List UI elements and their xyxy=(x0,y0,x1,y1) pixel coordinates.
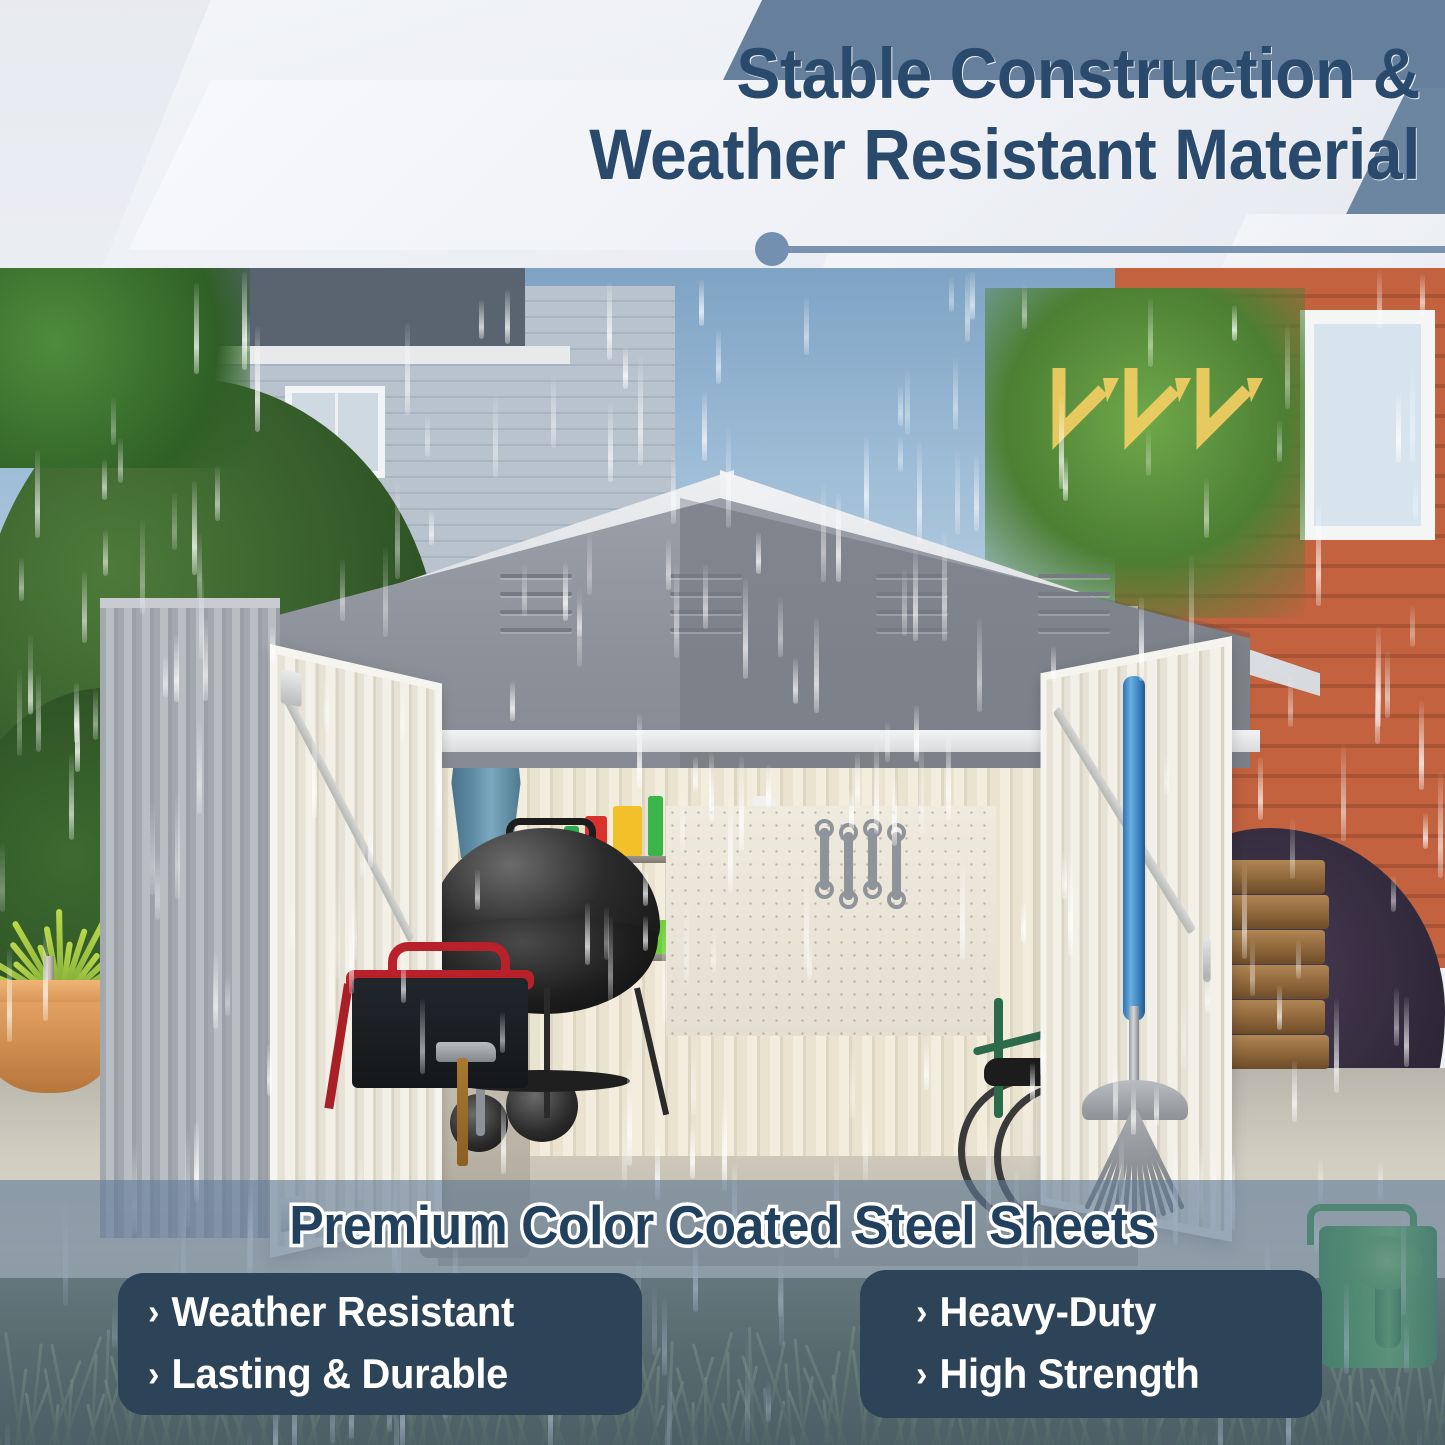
door-hinge-top xyxy=(281,669,302,707)
grill-leg xyxy=(544,988,550,1118)
terracotta-pot xyxy=(0,988,108,1093)
feature-label: Weather Resistant xyxy=(171,1289,514,1335)
feature-callout-left: › Weather Resistant › Lasting & Durable xyxy=(118,1273,642,1415)
wrench-icon xyxy=(844,832,853,900)
feature-label: Lasting & Durable xyxy=(171,1351,508,1397)
chevron-right-icon: › xyxy=(148,1354,159,1394)
pliers-red xyxy=(790,910,801,952)
headline-line-2: Weather Resistant Material xyxy=(99,115,1420,196)
feature-item: › High Strength xyxy=(916,1351,1200,1397)
feature-item: › Weather Resistant xyxy=(148,1289,585,1335)
door-brace-left xyxy=(282,693,415,942)
chevron-right-icon: › xyxy=(916,1354,927,1394)
wrench-icon xyxy=(892,832,901,900)
screwdriver-blue xyxy=(768,822,778,896)
hand-saw-green xyxy=(674,820,686,890)
roof-vent-slat xyxy=(500,574,572,578)
scissors-blue xyxy=(714,906,727,952)
roof-vent-slat xyxy=(670,592,742,596)
level-blue xyxy=(738,822,751,918)
pliers-yellow xyxy=(738,910,749,954)
roof-vent-slat xyxy=(500,628,572,632)
product-feature-poster: Stable Construction & Weather Resistant … xyxy=(0,0,1445,1445)
storage-shed xyxy=(120,358,1310,1258)
pliers-blue xyxy=(764,910,775,956)
roof-vent-group xyxy=(670,574,746,646)
roof-vent-slat xyxy=(1038,574,1110,578)
roof-vent-slat xyxy=(500,592,572,596)
brick-house-window xyxy=(1300,310,1435,540)
screwdriver-red xyxy=(790,822,800,900)
roof-vent-slat xyxy=(876,610,948,614)
pliers-red xyxy=(710,820,721,906)
roof-vent-slat xyxy=(670,610,742,614)
feature-label: Heavy-Duty xyxy=(939,1289,1156,1335)
wrench-icon xyxy=(820,828,829,890)
headline-divider-dot xyxy=(755,232,789,266)
chevron-right-icon: › xyxy=(148,1292,159,1332)
roof-vent-slat xyxy=(1038,592,1110,596)
rake-handle xyxy=(1123,676,1145,1021)
feature-callout-right: › Heavy-Duty › High Strength xyxy=(860,1270,1322,1418)
scissors-blue xyxy=(696,906,709,952)
header-banner: Stable Construction & Weather Resistant … xyxy=(0,0,1445,268)
wrench-icon xyxy=(868,828,877,890)
roof-vent-slat xyxy=(1038,610,1110,614)
roof-vent-group xyxy=(1038,574,1114,646)
door-handle[interactable] xyxy=(1203,937,1211,982)
roof-vent-slat xyxy=(876,574,948,578)
footer-banner-text: Premium Color Coated Steel Sheets xyxy=(43,1194,1401,1256)
header-decor-band-light-2 xyxy=(1213,214,1445,268)
pliers-red xyxy=(688,820,699,902)
roof-vent-slat xyxy=(670,628,742,632)
feature-item: › Lasting & Durable xyxy=(148,1351,585,1397)
roof-vent-slat xyxy=(1038,628,1110,632)
shelf-item xyxy=(648,796,663,856)
tool-bag xyxy=(352,978,528,1088)
feature-item: › Heavy-Duty xyxy=(916,1289,1156,1335)
roof-vent-group xyxy=(876,574,952,646)
roof-vent-slat xyxy=(670,574,742,578)
feature-label: High Strength xyxy=(939,1351,1199,1397)
roof-vent-slat xyxy=(876,592,948,596)
sun-ray-arrows-icon xyxy=(1045,368,1275,478)
terracotta-pot-rim xyxy=(0,980,114,1002)
shelf-item xyxy=(613,806,642,856)
roof-vent-group xyxy=(500,574,576,646)
chevron-right-icon: › xyxy=(916,1292,927,1332)
headline-divider-line xyxy=(762,246,1445,253)
shed-side-wall-left xyxy=(100,608,280,1238)
roof-vent-slat xyxy=(500,610,572,614)
headline-block: Stable Construction & Weather Resistant … xyxy=(0,34,1420,196)
hammer-handle xyxy=(457,1058,468,1166)
headline-line-1: Stable Construction & xyxy=(99,34,1420,115)
roof-vent-slat xyxy=(876,628,948,632)
